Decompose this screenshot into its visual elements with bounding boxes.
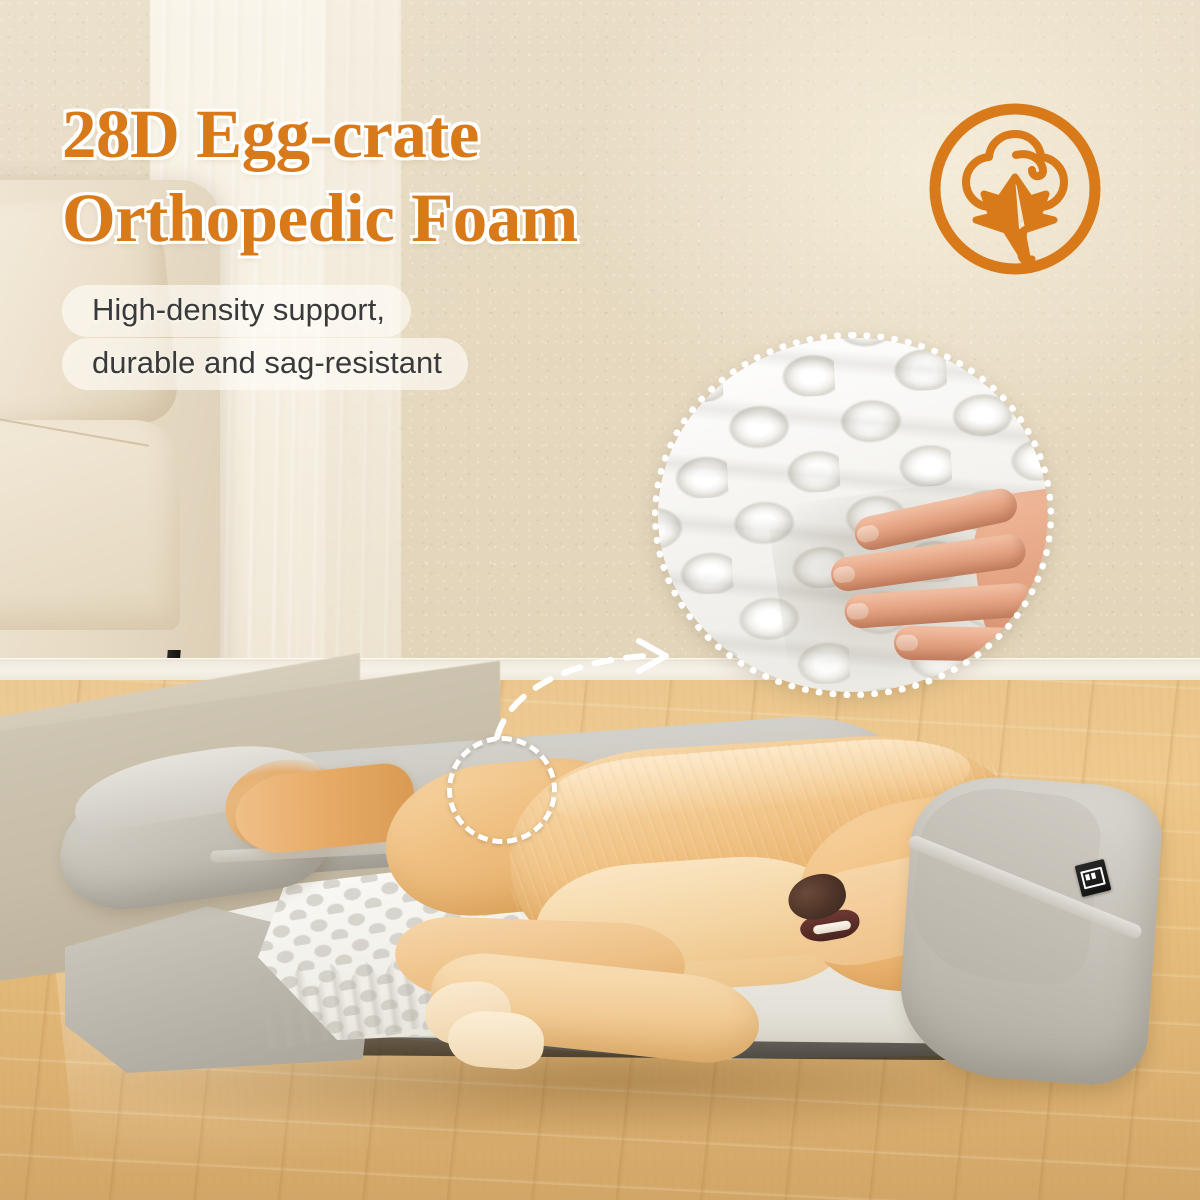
subtitle-line-2: durable and sag-resistant	[62, 338, 468, 390]
dashed-callout-circle	[447, 736, 557, 844]
sofa-seat	[0, 420, 180, 630]
headline-line-2: Orthopedic Foam	[62, 176, 762, 260]
marketing-image-canvas: 28D Egg-crate Orthopedic Foam High-densi…	[0, 0, 1200, 1200]
foam-closeup-dotted-border	[652, 332, 1054, 698]
subtitle-line-1: High-density support,	[62, 285, 411, 337]
page-title: 28D Egg-crate Orthopedic Foam	[62, 92, 762, 260]
cotton-boll-icon	[924, 98, 1106, 280]
brand-tag-logo-icon	[1080, 867, 1106, 890]
cotton-boll-badge	[924, 98, 1106, 280]
headline-line-1: 28D Egg-crate	[62, 92, 762, 176]
